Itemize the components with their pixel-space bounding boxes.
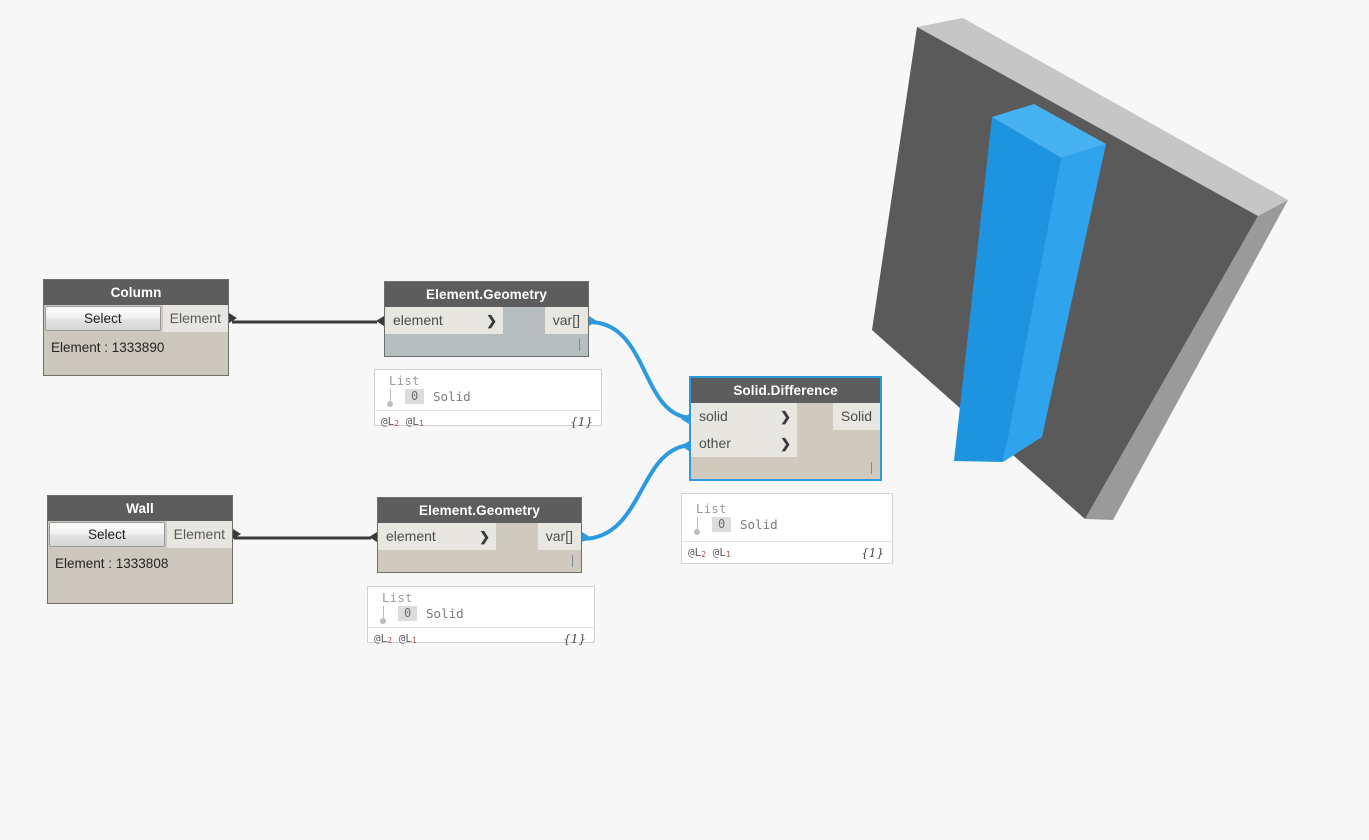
lacing-label[interactable]: @L2 @L1 bbox=[381, 415, 424, 428]
node-title: Wall bbox=[48, 496, 232, 521]
node-element-geometry-bottom[interactable]: Element.Geometry element ❯ var[] bbox=[377, 497, 582, 573]
node-title: Column bbox=[44, 280, 228, 305]
resize-grip-icon[interactable] bbox=[871, 462, 872, 474]
input-connector-icon[interactable] bbox=[376, 316, 384, 326]
preview-count: {1} bbox=[570, 415, 593, 429]
preview-type-label: List bbox=[382, 591, 413, 605]
input-connector-icon[interactable] bbox=[369, 532, 377, 542]
preview-index: 0 bbox=[405, 389, 424, 404]
output-port-element[interactable]: Element bbox=[167, 521, 232, 548]
input-port-other[interactable]: other ❯ bbox=[691, 430, 797, 457]
wire-geometry-top-to-solid[interactable] bbox=[589, 322, 693, 418]
dynamo-graph-canvas[interactable]: Column Select Element Element : 1333890 … bbox=[0, 0, 1369, 840]
node-footer bbox=[385, 334, 588, 356]
preview-value: Solid bbox=[426, 606, 464, 621]
node-title: Element.Geometry bbox=[385, 282, 588, 307]
preview-count: {1} bbox=[563, 632, 586, 646]
output-port-element[interactable]: Element bbox=[163, 305, 228, 332]
preview-content: List 0 Solid bbox=[682, 494, 892, 541]
chevron-right-icon[interactable]: ❯ bbox=[479, 523, 490, 550]
output-connector-icon[interactable] bbox=[589, 316, 597, 326]
preview-bubble-solid-difference: List 0 Solid @L2 @L1 {1} bbox=[681, 493, 893, 564]
node-element-geometry-top[interactable]: Element.Geometry element ❯ var[] bbox=[384, 281, 589, 357]
select-row[interactable]: Select Element bbox=[48, 521, 232, 548]
tree-dot-icon bbox=[387, 401, 393, 407]
output-connector-icon[interactable] bbox=[229, 313, 237, 323]
input-port-element[interactable]: element ❯ bbox=[378, 523, 496, 550]
output-port-var[interactable]: var[] bbox=[545, 307, 588, 334]
node-footer bbox=[378, 550, 581, 572]
output-connector-icon[interactable] bbox=[233, 529, 241, 539]
input-port-element[interactable]: element ❯ bbox=[385, 307, 503, 334]
preview-count: {1} bbox=[861, 546, 884, 560]
preview-content: List 0 Solid bbox=[375, 370, 601, 410]
preview-index: 0 bbox=[712, 517, 731, 532]
resize-grip-icon[interactable] bbox=[579, 339, 580, 351]
input-connector-icon-other[interactable] bbox=[681, 441, 689, 451]
chevron-right-icon[interactable]: ❯ bbox=[486, 307, 497, 334]
preview-value: Solid bbox=[740, 517, 778, 532]
preview-content: List 0 Solid bbox=[368, 587, 594, 627]
output-port-solid[interactable]: Solid bbox=[833, 403, 880, 430]
select-button[interactable]: Select bbox=[49, 522, 165, 547]
chevron-right-icon[interactable]: ❯ bbox=[780, 430, 791, 457]
select-row[interactable]: Select Element bbox=[44, 305, 228, 332]
input-port-label: solid bbox=[699, 403, 728, 430]
preview-type-label: List bbox=[696, 502, 727, 516]
select-button[interactable]: Select bbox=[45, 306, 161, 331]
preview-footer: @L2 @L1 {1} bbox=[368, 627, 594, 652]
preview-index: 0 bbox=[398, 606, 417, 621]
output-port-var[interactable]: var[] bbox=[538, 523, 581, 550]
element-value-text: Element : 1333890 bbox=[44, 332, 228, 355]
wire-geometry-bottom-to-other[interactable] bbox=[582, 445, 693, 539]
node-solid-difference[interactable]: Solid.Difference solid ❯ Solid other ❯ bbox=[689, 376, 882, 481]
preview-bubble-geometry-top: List 0 Solid @L2 @L1 {1} bbox=[374, 369, 602, 426]
preview-type-label: List bbox=[389, 374, 420, 388]
node-title: Solid.Difference bbox=[691, 378, 880, 403]
input-connector-icon-solid[interactable] bbox=[681, 414, 689, 424]
lacing-label[interactable]: @L2 @L1 bbox=[374, 632, 417, 645]
preview-bubble-geometry-bottom: List 0 Solid @L2 @L1 {1} bbox=[367, 586, 595, 643]
tree-dot-icon bbox=[694, 529, 700, 535]
input-port-solid[interactable]: solid ❯ bbox=[691, 403, 797, 430]
lacing-label[interactable]: @L2 @L1 bbox=[688, 546, 731, 559]
preview-footer: @L2 @L1 {1} bbox=[682, 541, 892, 566]
node-column[interactable]: Column Select Element Element : 1333890 bbox=[43, 279, 229, 376]
resize-grip-icon[interactable] bbox=[572, 555, 573, 567]
node-footer bbox=[691, 457, 880, 479]
chevron-right-icon[interactable]: ❯ bbox=[780, 403, 791, 430]
preview-value: Solid bbox=[433, 389, 471, 404]
input-port-label: element bbox=[386, 523, 436, 550]
node-wall[interactable]: Wall Select Element Element : 1333808 bbox=[47, 495, 233, 604]
input-port-label: other bbox=[699, 430, 731, 457]
input-port-label: element bbox=[393, 307, 443, 334]
output-connector-icon[interactable] bbox=[582, 532, 590, 542]
tree-dot-icon bbox=[380, 618, 386, 624]
node-title: Element.Geometry bbox=[378, 498, 581, 523]
preview-footer: @L2 @L1 {1} bbox=[375, 410, 601, 435]
element-value-text: Element : 1333808 bbox=[48, 548, 232, 571]
